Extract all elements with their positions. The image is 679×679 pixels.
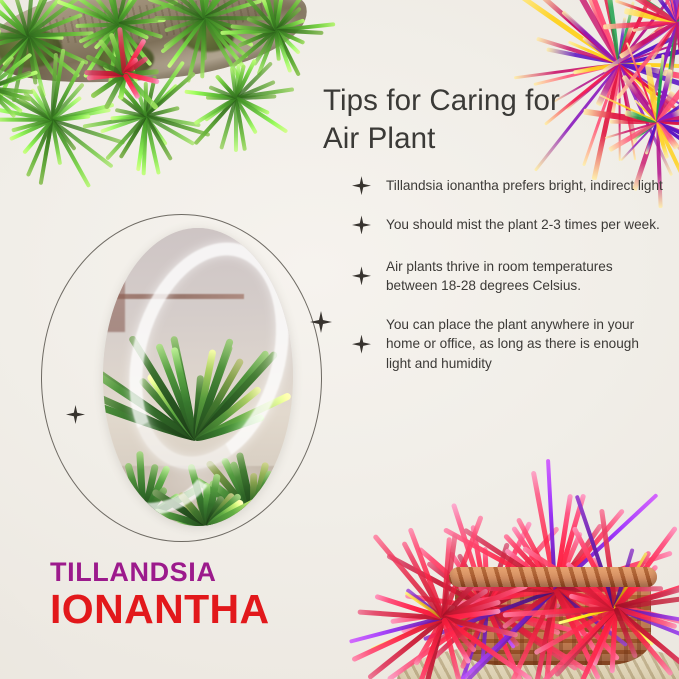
list-item-text: Air plants thrive in room temperatures b… <box>386 257 616 296</box>
tips-list: Tillandsia ionantha prefers bright, indi… <box>352 176 668 373</box>
list-item: You can place the plant anywhere in your… <box>352 315 668 373</box>
brand-genus: TILLANDSIA <box>50 558 270 586</box>
photo-post <box>107 249 125 332</box>
page-title-line-1: Tips for Caring for <box>323 82 643 120</box>
list-item: You should mist the plant 2-3 times per … <box>352 215 668 234</box>
sparkle-bullet-icon <box>352 335 371 354</box>
list-item: Tillandsia ionantha prefers bright, indi… <box>352 176 668 195</box>
bottom-right-basket-decoration <box>403 458 679 679</box>
page-title: Tips for Caring for Air Plant <box>323 82 643 158</box>
sparkle-bullet-icon <box>352 176 371 195</box>
poster-canvas: Tips for Caring for Air Plant Tillandsia… <box>0 0 679 679</box>
top-left-plant-decoration <box>0 0 346 215</box>
page-title-line-2: Air Plant <box>323 120 643 158</box>
list-item: Air plants thrive in room temperatures b… <box>352 257 668 296</box>
list-item-text: You can place the plant anywhere in your… <box>386 315 648 373</box>
brand-species: IONANTHA <box>50 588 270 631</box>
oval-photo-frame <box>103 228 293 526</box>
sparkle-bullet-icon <box>352 215 371 234</box>
list-item-text: You should mist the plant 2-3 times per … <box>386 215 660 234</box>
sparkle-bullet-icon <box>352 266 371 285</box>
list-item-text: Tillandsia ionantha prefers bright, indi… <box>386 176 663 195</box>
basket-rim <box>449 567 657 587</box>
brand-name-block: TILLANDSIA IONANTHA <box>50 558 270 632</box>
